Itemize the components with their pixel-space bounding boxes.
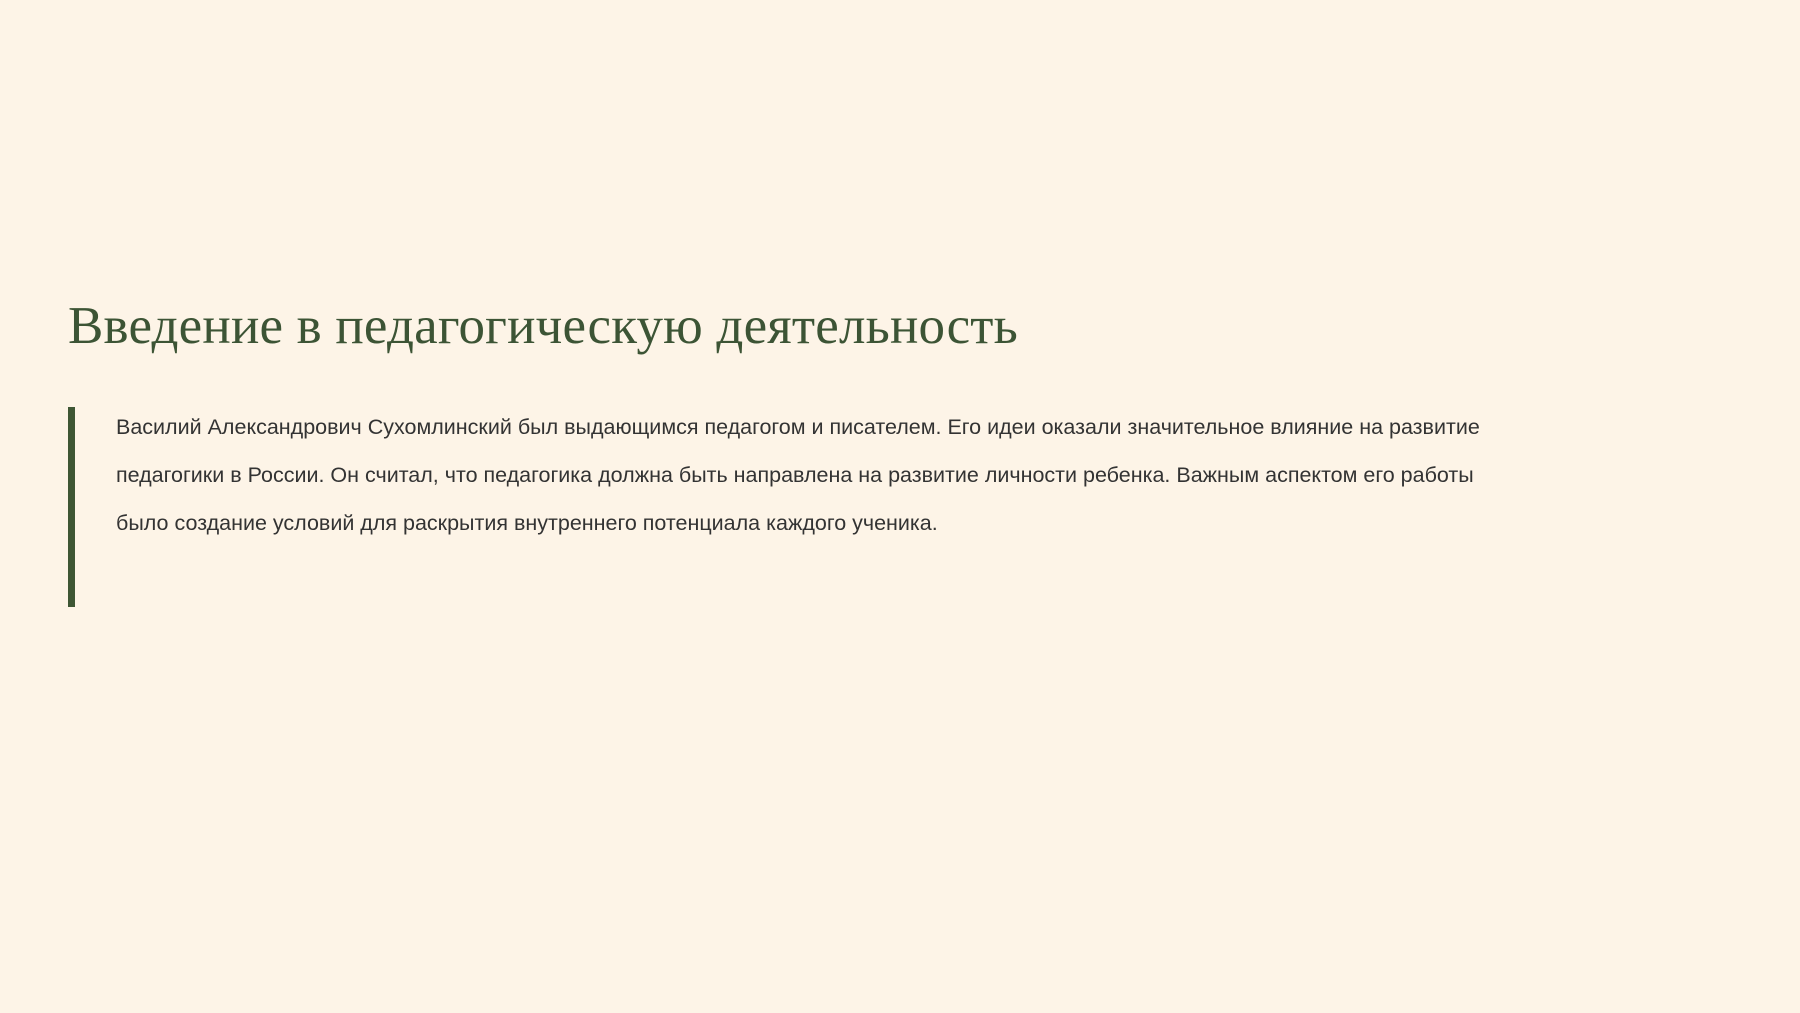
body-callout: Василий Александрович Сухомлинский был в… xyxy=(68,403,1728,547)
accent-bar xyxy=(68,407,75,607)
slide-canvas: Введение в педагогическую деятельность В… xyxy=(0,0,1800,1013)
slide-content: Введение в педагогическую деятельность В… xyxy=(68,296,1728,547)
body-paragraph: Василий Александрович Сухомлинский был в… xyxy=(116,403,1511,547)
page-title: Введение в педагогическую деятельность xyxy=(68,296,1728,357)
